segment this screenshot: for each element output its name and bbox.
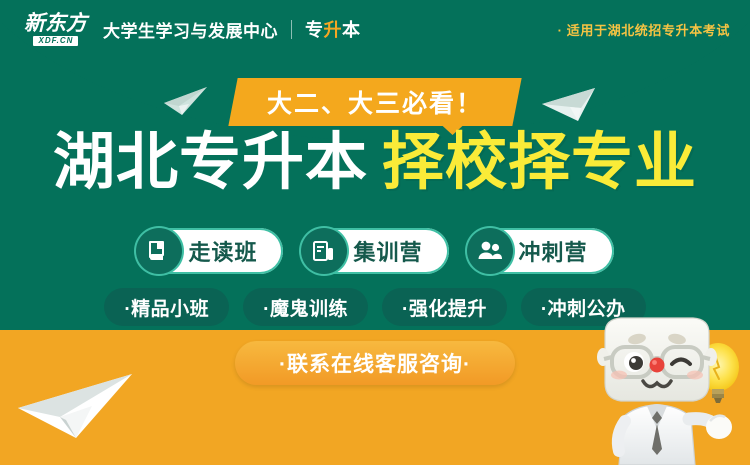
paper-plane-icon <box>14 362 134 440</box>
book-icon <box>136 228 182 274</box>
header-eligibility-note: · 适用于湖北统招专升本考试 <box>558 20 730 39</box>
ribbon-text: 大二、大三必看！ <box>267 84 483 120</box>
course-pill-zoudu[interactable]: 走读班 <box>136 228 283 274</box>
course-pill-label: 集训营 <box>353 235 422 267</box>
headline-secondary: 择校择专业 <box>382 128 697 197</box>
banner-header: 新东方 XDF.CN 大学生学习与发展中心 专升本 · 适用于湖北统招专升本考试 <box>0 0 750 58</box>
chart-board-icon <box>301 228 347 274</box>
course-pill-chongciying[interactable]: 冲刺营 <box>467 228 614 274</box>
logo-main-text: 新东方 <box>24 13 87 34</box>
ribbon-shape: 大二、大三必看！ <box>228 78 521 126</box>
logo-sub-text: XDF.CN <box>33 36 79 46</box>
feature-tag[interactable]: ·魔鬼训练 <box>243 288 368 326</box>
feature-tag[interactable]: ·强化提升 <box>382 288 507 326</box>
promo-banner: 新东方 XDF.CN 大学生学习与发展中心 专升本 · 适用于湖北统招专升本考试… <box>0 0 750 465</box>
headline-primary: 湖北专升本 <box>53 128 368 197</box>
xdf-logo[interactable]: 新东方 XDF.CN <box>24 13 87 46</box>
header-brand-accent: 升 <box>324 20 343 40</box>
header-brand-left: 专 <box>305 20 324 40</box>
headline: 湖北专升本择校择专业 <box>0 132 750 194</box>
header-divider <box>291 20 292 39</box>
course-pill-row: 走读班 集训营 冲刺营 <box>0 228 750 274</box>
course-pill-label: 冲刺营 <box>519 235 588 267</box>
header-brand: 专升本 <box>305 16 361 42</box>
people-icon <box>467 228 513 274</box>
course-pill-jixunying[interactable]: 集训营 <box>301 228 448 274</box>
contact-support-button[interactable]: ·联系在线客服咨询· <box>235 341 515 385</box>
scientist-mascot-with-lightbulb <box>579 305 744 465</box>
ribbon-banner: 大二、大三必看！ <box>0 78 750 126</box>
feature-tag[interactable]: ·精品小班 <box>104 288 229 326</box>
header-title: 大学生学习与发展中心 <box>103 17 278 42</box>
header-brand-right: 本 <box>342 20 361 40</box>
course-pill-label: 走读班 <box>188 235 257 267</box>
